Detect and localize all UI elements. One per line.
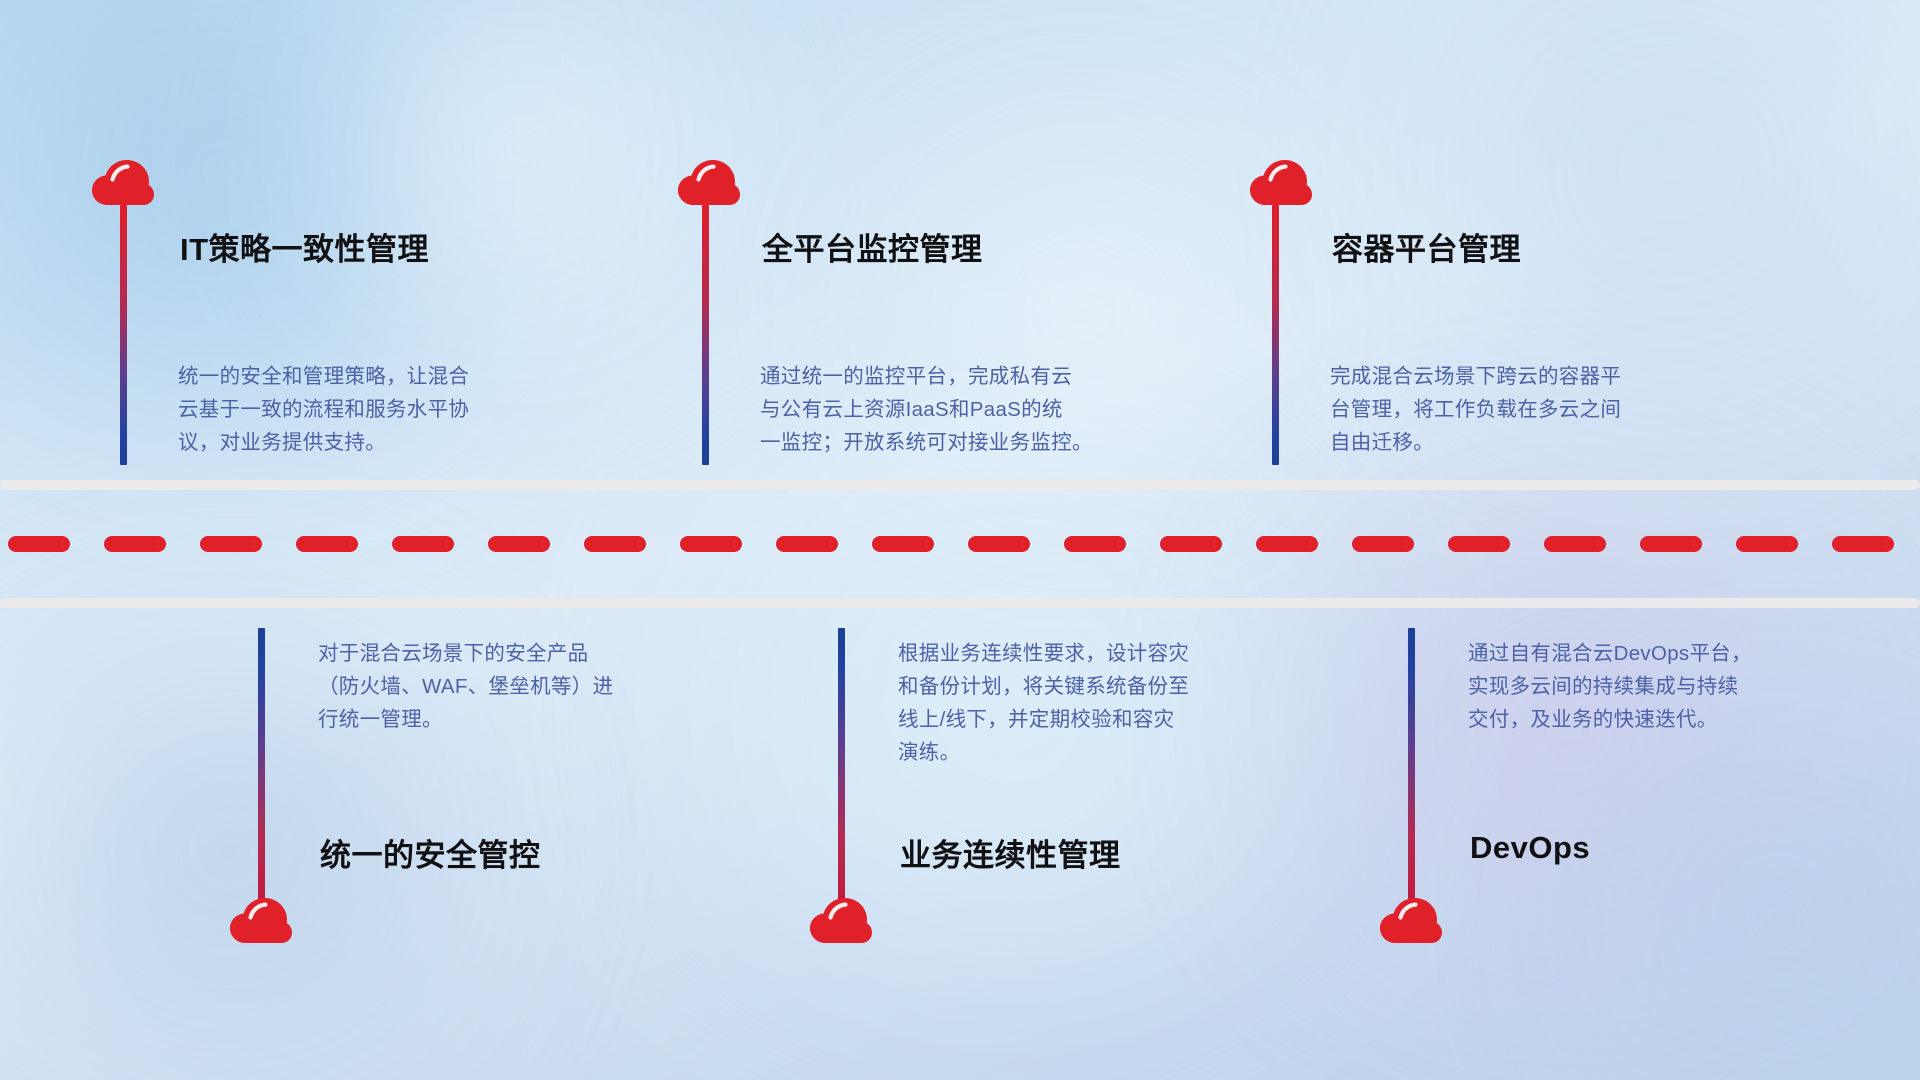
road-dash-segment [1832,536,1894,552]
road-dash-segment [1640,536,1702,552]
card-title: 业务连续性管理 [900,830,1121,875]
description-line: 和备份计划，将关键系统备份至 [898,670,1189,703]
pin-stem [702,205,709,465]
road-dash-segment [392,536,454,552]
description-line: 议，对业务提供支持。 [178,426,469,459]
road-dash-segment [1448,536,1510,552]
road-dash-segment [1160,536,1222,552]
description-line: 云基于一致的流程和服务水平协 [178,393,469,426]
card-description: 根据业务连续性要求，设计容灾和备份计划，将关键系统备份至线上/线下，并定期校验和… [898,637,1189,769]
cloud-icon [230,898,292,944]
description-line: （防火墙、WAF、堡垒机等）进 [318,670,613,703]
pin-stem [258,628,265,918]
pin-stem [1408,628,1415,918]
card-title: 统一的安全管控 [320,830,541,875]
description-line: 对于混合云场景下的安全产品 [318,637,613,670]
description-line: 台管理，将工作负载在多云之间 [1330,393,1621,426]
road-dash-segment [1064,536,1126,552]
description-line: 行统一管理。 [318,703,613,736]
road-dash-segment [1256,536,1318,552]
description-line: 通过自有混合云DevOps平台， [1468,637,1752,670]
pin-stem [838,628,845,918]
road-dash-segment [296,536,358,552]
road-dash-segment [776,536,838,552]
pin-stem [120,205,127,465]
cloud-icon [1380,898,1442,944]
road-edge-bottom [0,598,1920,608]
cloud-icon [92,160,154,206]
description-line: 根据业务连续性要求，设计容灾 [898,637,1189,670]
card-description: 通过统一的监控平台，完成私有云与公有云上资源IaaS和PaaS的统一监控；开放系… [760,360,1093,459]
pin-stem [1272,205,1279,465]
road-dash-segment [8,536,70,552]
road-dash-segment [1544,536,1606,552]
road-edge-top [0,480,1920,490]
cloud-icon [678,160,740,206]
divider-road [0,480,1920,608]
road-center-dashes [0,536,1920,552]
road-dash-segment [584,536,646,552]
card-title: 容器平台管理 [1332,224,1521,269]
description-line: 自由迁移。 [1330,426,1621,459]
card-description: 完成混合云场景下跨云的容器平台管理，将工作负载在多云之间自由迁移。 [1330,360,1621,459]
card-description: 通过自有混合云DevOps平台，实现多云间的持续集成与持续交付，及业务的快速迭代… [1468,637,1752,736]
road-dash-segment [488,536,550,552]
description-line: 交付，及业务的快速迭代。 [1468,703,1752,736]
description-line: 通过统一的监控平台，完成私有云 [760,360,1093,393]
description-line: 线上/线下，并定期校验和容灾 [898,703,1189,736]
description-line: 一监控；开放系统可对接业务监控。 [760,426,1093,459]
description-line: 统一的安全和管理策略，让混合 [178,360,469,393]
road-dash-segment [968,536,1030,552]
card-description: 统一的安全和管理策略，让混合云基于一致的流程和服务水平协议，对业务提供支持。 [178,360,469,459]
card-title: DevOps [1470,830,1590,866]
road-dash-segment [200,536,262,552]
description-line: 与公有云上资源IaaS和PaaS的统 [760,393,1093,426]
description-line: 实现多云间的持续集成与持续 [1468,670,1752,703]
card-title: IT策略一致性管理 [180,224,429,269]
description-line: 演练。 [898,736,1189,769]
road-dash-segment [680,536,742,552]
description-line: 完成混合云场景下跨云的容器平 [1330,360,1621,393]
card-title: 全平台监控管理 [762,224,983,269]
cloud-icon [1250,160,1312,206]
cloud-icon [810,898,872,944]
road-dash-segment [104,536,166,552]
road-dash-segment [1352,536,1414,552]
road-dash-segment [1736,536,1798,552]
card-description: 对于混合云场景下的安全产品（防火墙、WAF、堡垒机等）进行统一管理。 [318,637,613,736]
road-dash-segment [872,536,934,552]
